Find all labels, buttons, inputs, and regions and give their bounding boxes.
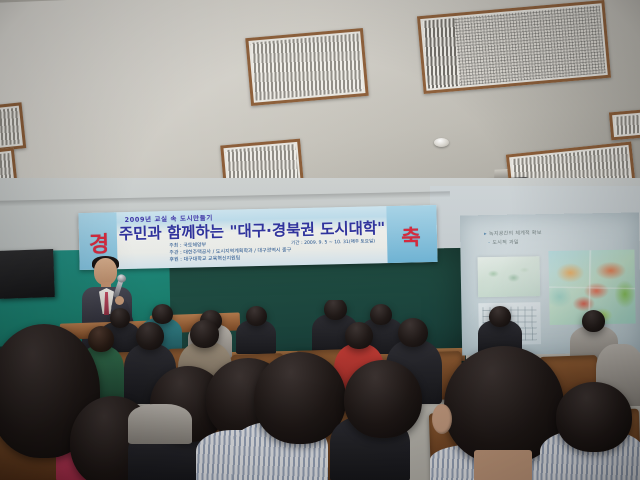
foreground-head [556,382,632,452]
ceiling-air-vent [417,0,611,94]
audience-head [370,304,392,325]
audience-head [324,300,347,320]
audience-head [110,308,130,328]
audience-head [152,304,173,324]
banner-left-mark: 경 [83,226,116,259]
photo-scene: 경 축 2009년 교실 속 도시만들기 주민과 함께하는 "대구·경북권 도시… [0,0,640,480]
ceiling-air-vent [609,108,640,141]
foreground-head [344,360,422,438]
audience-head [582,310,605,332]
audience-body [128,404,192,444]
foreground-ear [432,404,452,434]
audience-head [88,326,114,352]
smoke-detector [434,138,449,147]
audience-head [489,306,511,327]
audience-area [0,300,640,480]
ceiling-air-vent [0,102,26,153]
banner-sponsor-line: 후원 : 대구대학교 교육혁신지원팀 [169,254,291,264]
banner-credits: 주최 : 국토해양부 주관 : 대한주택공사 / 도시지역계획학과 / 대구광역… [169,240,291,264]
foreground-neck [474,450,532,480]
audience-head [246,306,267,326]
ceiling-air-vent [245,28,368,106]
wall-speaker [0,249,55,299]
presenter-head [94,258,117,285]
audience-head [136,322,164,350]
audience-head [190,320,219,348]
banner-period: 기간 : 2009. 9. 5 ~ 10. 31(매주 토요일) [291,238,375,246]
banner-right-mark: 축 [390,221,433,252]
audience-head [345,322,373,349]
audience-head [398,318,428,347]
